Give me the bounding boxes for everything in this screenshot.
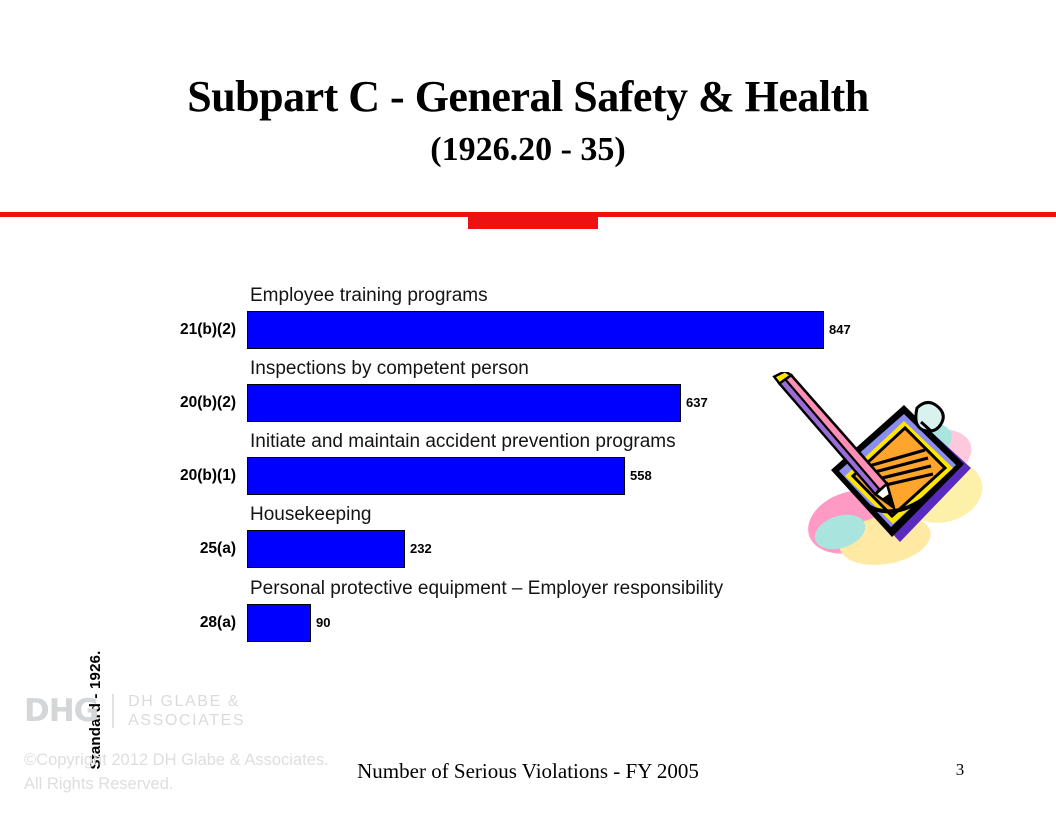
bar-category-description: Inspections by competent person [250,358,529,380]
brand-divider [112,694,114,728]
bar-category-code: 21(b)(2) [120,311,236,349]
bar-category-description: Employee training programs [250,285,488,307]
bar-category-code: 20(b)(1) [120,457,236,495]
bar-value-label: 90 [311,604,330,642]
copyright-notice: ©Copyright 2012 DH Glabe & Associates. A… [24,748,329,796]
bar-category-description: Personal protective equipment – Employer… [250,578,723,600]
bar-value-label: 637 [681,384,708,422]
title-divider-tab [468,212,598,229]
bar-category-code: 28(a) [120,604,236,642]
bar-category-code: 25(a) [120,530,236,568]
page-subtitle: (1926.20 - 35) [0,130,1056,170]
bar-558 [247,457,625,495]
brand-name-line2: ASSOCIATES [128,711,245,730]
page-title: Subpart C - General Safety & Health [0,72,1056,122]
bar-category-description: Housekeeping [250,504,371,526]
bar-232 [247,530,405,568]
bar-847 [247,311,824,349]
bar-637 [247,384,681,422]
bar-category-code: 20(b)(2) [120,384,236,422]
page-number: 3 [940,760,980,780]
brand-mark-text: DHG [24,696,98,727]
bar-value-label: 847 [824,311,851,349]
brand-name: DH GLABE & ASSOCIATES [128,692,245,730]
bar-value-label: 232 [405,530,432,568]
brand-logo: DHG DH GLABE & ASSOCIATES [24,692,245,730]
clipboard-with-pencil-icon [765,372,985,572]
bar-value-label: 558 [625,457,652,495]
bar-90 [247,604,311,642]
brand-name-line1: DH GLABE & [128,692,245,711]
bar-category-description: Initiate and maintain accident preventio… [250,431,676,453]
